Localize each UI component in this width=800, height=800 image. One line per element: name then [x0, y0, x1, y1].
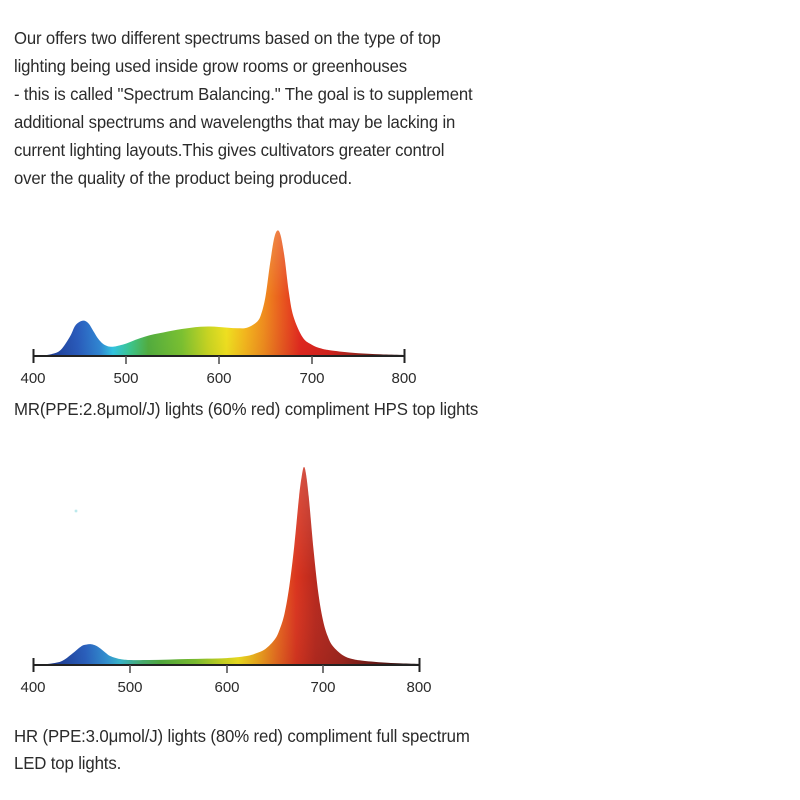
- tick-label-700: 700: [299, 370, 324, 387]
- caption-line: HR (PPE:3.0μmol/J) lights (80% red) comp…: [14, 723, 609, 750]
- intro-line: Our offers two different spectrums based…: [14, 24, 587, 52]
- intro-line: - this is called "Spectrum Balancing." T…: [14, 80, 587, 108]
- tick-label-800: 800: [406, 679, 431, 696]
- intro-line: current lighting layouts.This gives cult…: [14, 136, 587, 164]
- intro-line: lighting being used inside grow rooms or…: [14, 52, 587, 80]
- intro-paragraph: Our offers two different spectrums based…: [14, 24, 614, 192]
- tick-label-500: 500: [117, 679, 142, 696]
- hr-spectrum-chart: 400 500 600 700 800: [0, 452, 440, 702]
- tick-label-700: 700: [310, 679, 335, 696]
- spectrum-shading-overlay: [33, 218, 405, 393]
- spectrum-figure: 400 500 600 700 800: [0, 452, 440, 702]
- tick-label-400: 400: [20, 370, 45, 387]
- caption-line: LED top lights.: [14, 750, 609, 777]
- intro-line: over the quality of the product being pr…: [14, 164, 587, 192]
- intro-line: additional spectrums and wavelengths tha…: [14, 108, 587, 136]
- spectrum-plot-area: 400 500 600 700 800: [0, 218, 460, 393]
- tick-label-400: 400: [20, 679, 45, 696]
- tick-label-500: 500: [113, 370, 138, 387]
- mr-spectrum-caption: MR(PPE:2.8μmol/J) lights (60% red) compl…: [14, 396, 634, 423]
- hr-spectrum-caption: HR (PPE:3.0μmol/J) lights (80% red) comp…: [14, 723, 634, 777]
- tick-label-600: 600: [206, 370, 231, 387]
- x-axis-tick-labels: 400 500 600 700 800: [20, 679, 431, 696]
- spectrum-plot-area: 400 500 600 700 800: [0, 452, 460, 702]
- tick-label-800: 800: [391, 370, 416, 387]
- x-axis-tick-labels: 400 500 600 700 800: [20, 370, 416, 387]
- spectrum-gradient-band: [33, 218, 405, 393]
- mr-spectrum-chart: 400 500 600 700 800: [0, 218, 440, 393]
- caption-line: MR(PPE:2.8μmol/J) lights (60% red) compl…: [14, 396, 609, 423]
- spectrum-figure: 400 500 600 700 800: [0, 218, 440, 393]
- spectrum-curve-fill: [33, 218, 405, 393]
- tick-label-600: 600: [214, 679, 239, 696]
